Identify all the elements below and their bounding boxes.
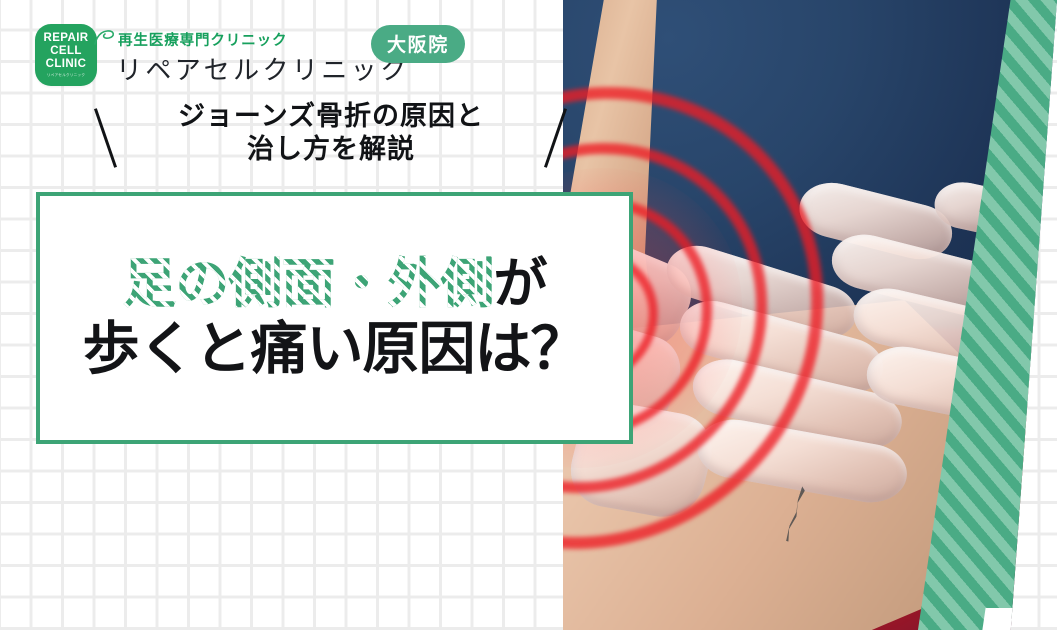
subtitle-line-1: ジョーンズ骨折の原因と: [96, 100, 566, 133]
subtitle-block: ジョーンズ骨折の原因と 治し方を解説: [96, 100, 566, 182]
logo-line-3: CLINIC: [46, 58, 87, 70]
hero-banner: REPAIR CELL CLINIC リペアセルクリニック 再生医療専門クリニッ…: [0, 0, 1057, 630]
logo-sublabel: リペアセルクリニック: [47, 73, 85, 78]
location-badge: 大阪院: [371, 25, 465, 63]
clinic-logo[interactable]: REPAIR CELL CLINIC リペアセルクリニック: [35, 24, 97, 86]
leaf-icon: [93, 28, 117, 48]
brand-name: リペアセルクリニック: [116, 50, 409, 87]
subtitle-text: ジョーンズ骨折の原因と 治し方を解説: [96, 100, 566, 166]
subtitle-line-2: 治し方を解説: [96, 133, 566, 166]
illustration-canvas: [563, 0, 1057, 630]
foot-illustration-panel: [563, 0, 1057, 630]
headline-line-2: 歩くと痛い原因は？: [83, 319, 587, 379]
logo-line-1: REPAIR: [44, 32, 89, 44]
corner-white-notch: [981, 608, 1020, 630]
clinic-header: REPAIR CELL CLINIC リペアセルクリニック 再生医療専門クリニッ…: [0, 0, 600, 100]
headline-line-1: 足の側面・外側が: [123, 256, 547, 313]
fracture-line: [785, 486, 806, 541]
logo-line-2: CELL: [50, 45, 82, 57]
headline-line-1-tail: が: [494, 254, 547, 314]
headline-box: 足の側面・外側が 歩くと痛い原因は？: [36, 192, 633, 444]
brand-subtitle: 再生医療専門クリニック: [118, 29, 287, 50]
headline-highlight-green: 足の側面・外側: [123, 256, 494, 313]
